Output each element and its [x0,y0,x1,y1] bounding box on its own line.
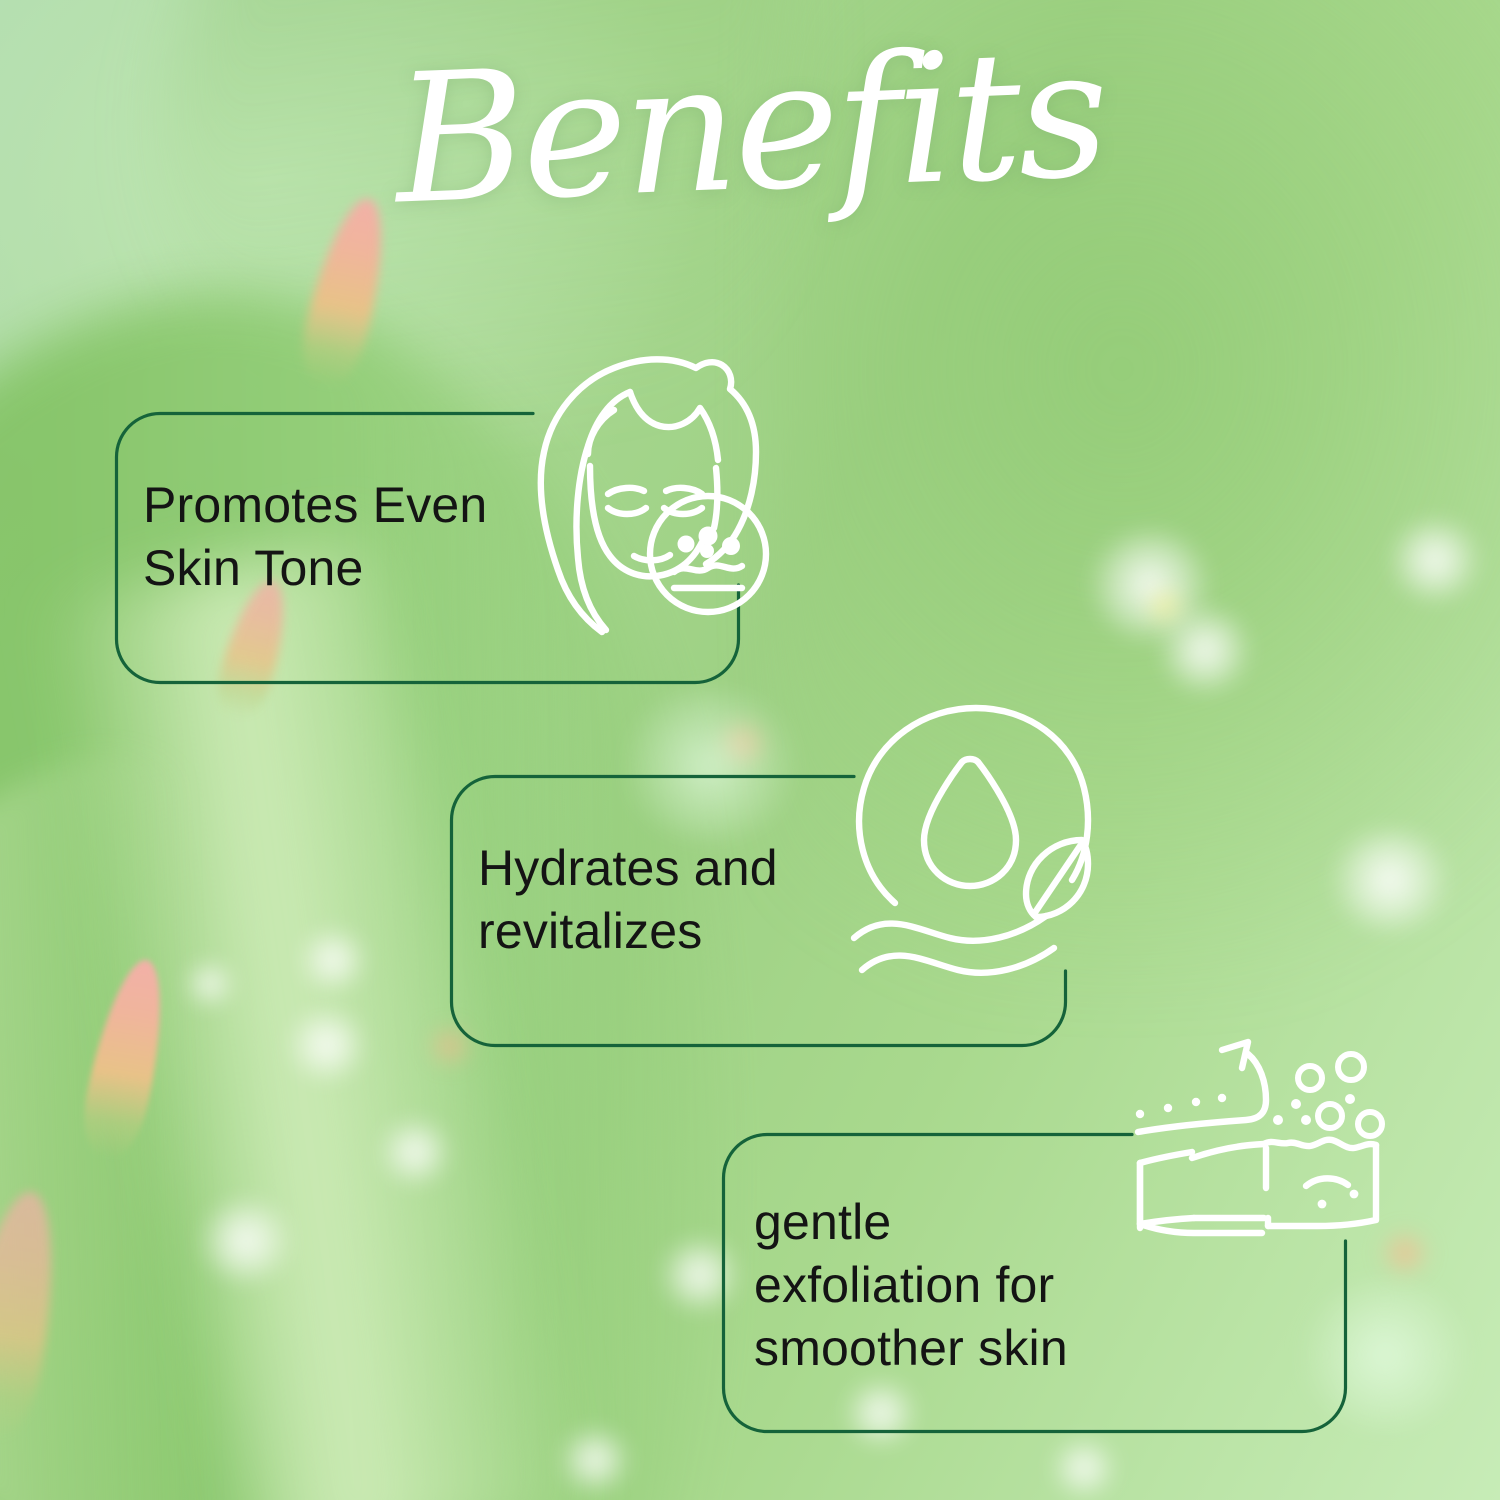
bokeh-highlight [1160,608,1250,692]
bokeh-highlight [300,930,366,990]
benefit-label: Hydrates and revitalizes [478,837,778,963]
face-skin-analysis-icon [510,348,780,638]
bokeh-highlight [186,962,234,1006]
benefit-label: Promotes Even Skin Tone [143,474,487,600]
bokeh-highlight [288,1010,366,1080]
bokeh-highlight [560,1430,630,1490]
skin-exfoliation-icon [1110,1028,1410,1298]
benefit-label: gentle exfoliation for smoother skin [754,1191,1068,1380]
water-droplet-leaf-icon [840,688,1110,988]
bokeh-highlight [380,1120,450,1184]
bokeh-highlight [1330,830,1450,930]
bokeh-highlight [1052,1440,1116,1496]
bokeh-highlight [200,1200,292,1282]
bokeh-highlight [1390,520,1480,600]
benefits-infographic: Benefits Promotes Even Skin Tone [0,0,1500,1500]
